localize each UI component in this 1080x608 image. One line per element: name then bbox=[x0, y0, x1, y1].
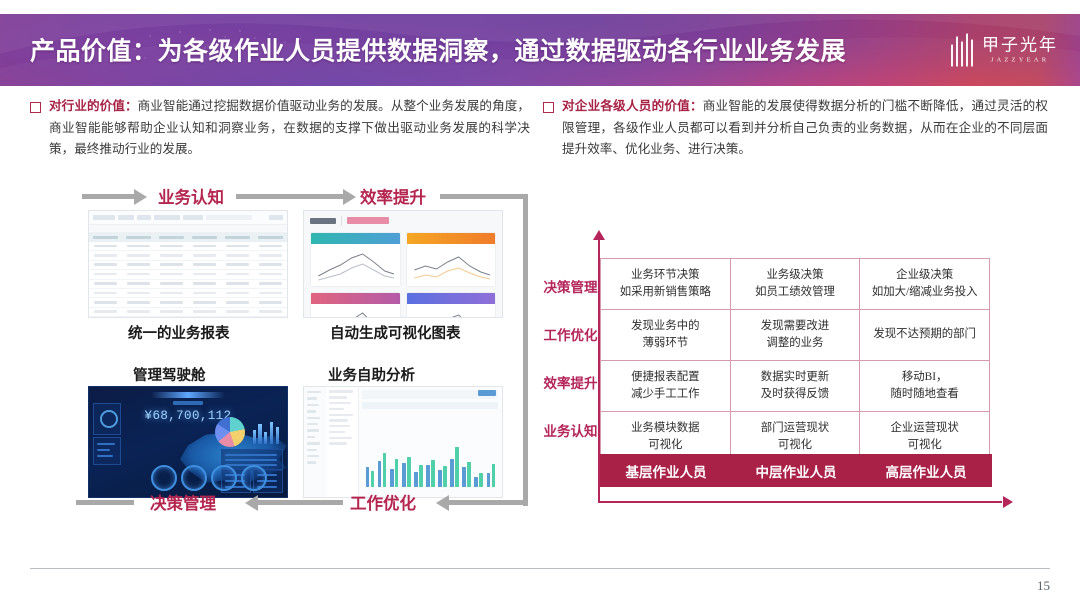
matrix-cell: 数据实时更新及时获得反馈 bbox=[730, 361, 860, 412]
cycle-arrow-bottom-mid bbox=[258, 500, 343, 505]
cockpit-side-panel bbox=[93, 403, 121, 435]
cockpit-gauge bbox=[151, 465, 177, 491]
chart-panel bbox=[310, 292, 401, 318]
matrix-row-label-3: 业务认知 bbox=[543, 420, 598, 440]
bullet-section: 对行业的价值：商业智能通过挖掘数据价值驱动业务的发展。从整个业务发展的角度，商业… bbox=[0, 96, 1080, 166]
cycle-arrowhead-bottom-mid bbox=[245, 495, 258, 511]
report-toolbar bbox=[89, 211, 287, 225]
bullet-industry-value: 对行业的价值：商业智能通过挖掘数据价值驱动业务的发展。从整个业务发展的角度，商业… bbox=[30, 96, 530, 161]
cycle-caption-1: 自动生成可视化图表 bbox=[330, 322, 461, 343]
cockpit-pie-chart bbox=[215, 417, 245, 447]
report-table-row bbox=[89, 308, 287, 317]
analysis-left-nav bbox=[304, 387, 327, 497]
bullet-lead: 对企业各级人员的价值： bbox=[562, 99, 703, 113]
cockpit-side-panel bbox=[93, 437, 121, 465]
cycle-arrow-bottom-out bbox=[76, 500, 134, 505]
matrix-x-axis bbox=[598, 501, 1002, 503]
chart-shot-header bbox=[304, 211, 502, 228]
page-title: 产品价值：为各级作业人员提供数据洞察，通过数据驱动各行业业务发展 bbox=[30, 31, 846, 67]
bullet-text: 对企业各级人员的价值：商业智能的发展使得数据分析的门槛不断降低，通过灵活的权限管… bbox=[562, 96, 1048, 161]
matrix-cell: 发现不达预期的部门 bbox=[860, 310, 990, 361]
logo-bars-icon bbox=[951, 34, 973, 67]
cycle-arrowhead-top-in bbox=[134, 189, 147, 205]
chart-shot-title bbox=[310, 218, 336, 224]
report-table-row bbox=[89, 270, 287, 279]
table-row: 业务环节决策如采用新销售策略 业务级决策如员工绩效管理 企业级决策如加大/缩减业… bbox=[601, 259, 990, 310]
bullet-enterprise-value: 对企业各级人员的价值：商业智能的发展使得数据分析的门槛不断降低，通过灵活的权限管… bbox=[543, 96, 1048, 161]
matrix-row-label-2: 效率提升 bbox=[543, 372, 598, 392]
analysis-bar-chart bbox=[364, 439, 497, 487]
cycle-arrow-right bbox=[523, 194, 528, 506]
matrix-row-label-1: 工作优化 bbox=[543, 324, 598, 344]
screenshot-management-cockpit: ¥68,700,112 bbox=[88, 386, 288, 498]
matrix-cell: 业务环节决策如采用新销售策略 bbox=[601, 259, 731, 310]
chart-panel bbox=[406, 292, 497, 318]
matrix-cell: 发现业务中的薄弱环节 bbox=[601, 310, 731, 361]
page-number: 15 bbox=[1037, 578, 1050, 594]
footer-divider bbox=[30, 568, 1050, 569]
matrix-cell: 企业级决策如加大/缩减业务投入 bbox=[860, 259, 990, 310]
matrix-table: 业务环节决策如采用新销售策略 业务级决策如员工绩效管理 企业级决策如加大/缩减业… bbox=[600, 258, 990, 463]
report-table-row bbox=[89, 251, 287, 260]
cycle-stage-label-0: 业务认知 bbox=[158, 184, 224, 208]
cockpit-gauge bbox=[181, 465, 207, 491]
matrix-cell: 发现需要改进调整的业务 bbox=[730, 310, 860, 361]
report-subbar bbox=[89, 225, 287, 233]
header-banner: 产品价值：为各级作业人员提供数据洞察，通过数据驱动各行业业务发展 甲子光年 JA… bbox=[0, 14, 1080, 86]
cockpit-amount-label bbox=[173, 401, 203, 405]
report-table-row bbox=[89, 261, 287, 270]
report-table-row bbox=[89, 289, 287, 298]
matrix-cell: 移动BI，随时随地查看 bbox=[860, 361, 990, 412]
slide: 产品价值：为各级作业人员提供数据洞察，通过数据驱动各行业业务发展 甲子光年 JA… bbox=[0, 0, 1080, 608]
chart-shot-highlight bbox=[347, 217, 389, 224]
cycle-arrow-top-mid bbox=[236, 194, 343, 199]
report-table-row bbox=[89, 280, 287, 289]
screenshot-self-service-analysis bbox=[303, 386, 503, 498]
cycle-arrowhead-bottom-in bbox=[436, 495, 449, 511]
cycle-caption-3: 业务自助分析 bbox=[328, 364, 415, 385]
value-matrix: 决策管理 工作优化 效率提升 业务认知 业务环节决策如采用新销售策略 业务级决策… bbox=[543, 230, 1013, 510]
bullet-square-icon bbox=[30, 102, 41, 113]
analysis-primary-button[interactable] bbox=[478, 390, 496, 396]
screenshot-auto-charts bbox=[303, 210, 503, 318]
matrix-column-label-0: 基层作业人员 bbox=[601, 455, 731, 486]
cycle-arrowhead-top-mid bbox=[343, 189, 356, 205]
screenshot-unified-report bbox=[88, 210, 288, 318]
logo-text-en: JAZZYEAR bbox=[991, 57, 1049, 64]
brand-logo: 甲子光年 JAZZYEAR bbox=[951, 34, 1058, 67]
matrix-row-label-0: 决策管理 bbox=[543, 276, 598, 296]
bullet-square-icon bbox=[543, 102, 554, 113]
matrix-x-axis-arrow-icon bbox=[1003, 496, 1013, 508]
analysis-filterbar bbox=[362, 402, 498, 409]
cycle-caption-2: 管理驾驶舱 bbox=[133, 364, 206, 385]
cycle-stage-label-3: 决策管理 bbox=[150, 490, 216, 514]
cockpit-bar-chart bbox=[253, 420, 279, 444]
table-row: 便捷报表配置减少手工工作 数据实时更新及时获得反馈 移动BI，随时随地查看 bbox=[601, 361, 990, 412]
analysis-field-palette bbox=[326, 387, 359, 497]
cockpit-gauge bbox=[241, 465, 267, 491]
logo-text-cn: 甲子光年 bbox=[982, 36, 1058, 53]
matrix-column-header-bar: 基层作业人员 中层作业人员 高层作业人员 bbox=[600, 454, 992, 487]
cycle-stage-label-2: 工作优化 bbox=[350, 490, 416, 514]
report-table-row bbox=[89, 298, 287, 307]
cockpit-title-bar bbox=[151, 392, 225, 398]
matrix-column-label-1: 中层作业人员 bbox=[731, 455, 861, 486]
matrix-cell: 便捷报表配置减少手工工作 bbox=[601, 361, 731, 412]
report-table-row bbox=[89, 242, 287, 251]
bullet-lead: 对行业的价值： bbox=[49, 99, 138, 113]
cycle-arrow-top-in bbox=[82, 194, 134, 199]
value-cycle-diagram: 业务认知 效率提升 统一的业务报表 bbox=[88, 182, 540, 534]
table-row: 发现业务中的薄弱环节 发现需要改进调整的业务 发现不达预期的部门 bbox=[601, 310, 990, 361]
chart-panel bbox=[406, 232, 497, 287]
matrix-column-label-2: 高层作业人员 bbox=[861, 455, 991, 486]
cycle-arrow-bottom-in bbox=[449, 500, 527, 505]
cockpit-gauge bbox=[211, 465, 237, 491]
bullet-text: 对行业的价值：商业智能通过挖掘数据价值驱动业务的发展。从整个业务发展的角度，商业… bbox=[49, 96, 530, 161]
chart-panel bbox=[310, 232, 401, 287]
cycle-caption-0: 统一的业务报表 bbox=[128, 322, 230, 343]
cycle-arrow-top-out bbox=[440, 194, 528, 199]
report-table-header bbox=[89, 233, 287, 242]
matrix-cell: 业务级决策如员工绩效管理 bbox=[730, 259, 860, 310]
cycle-stage-label-1: 效率提升 bbox=[360, 184, 426, 208]
chart-panel-grid bbox=[304, 228, 502, 318]
